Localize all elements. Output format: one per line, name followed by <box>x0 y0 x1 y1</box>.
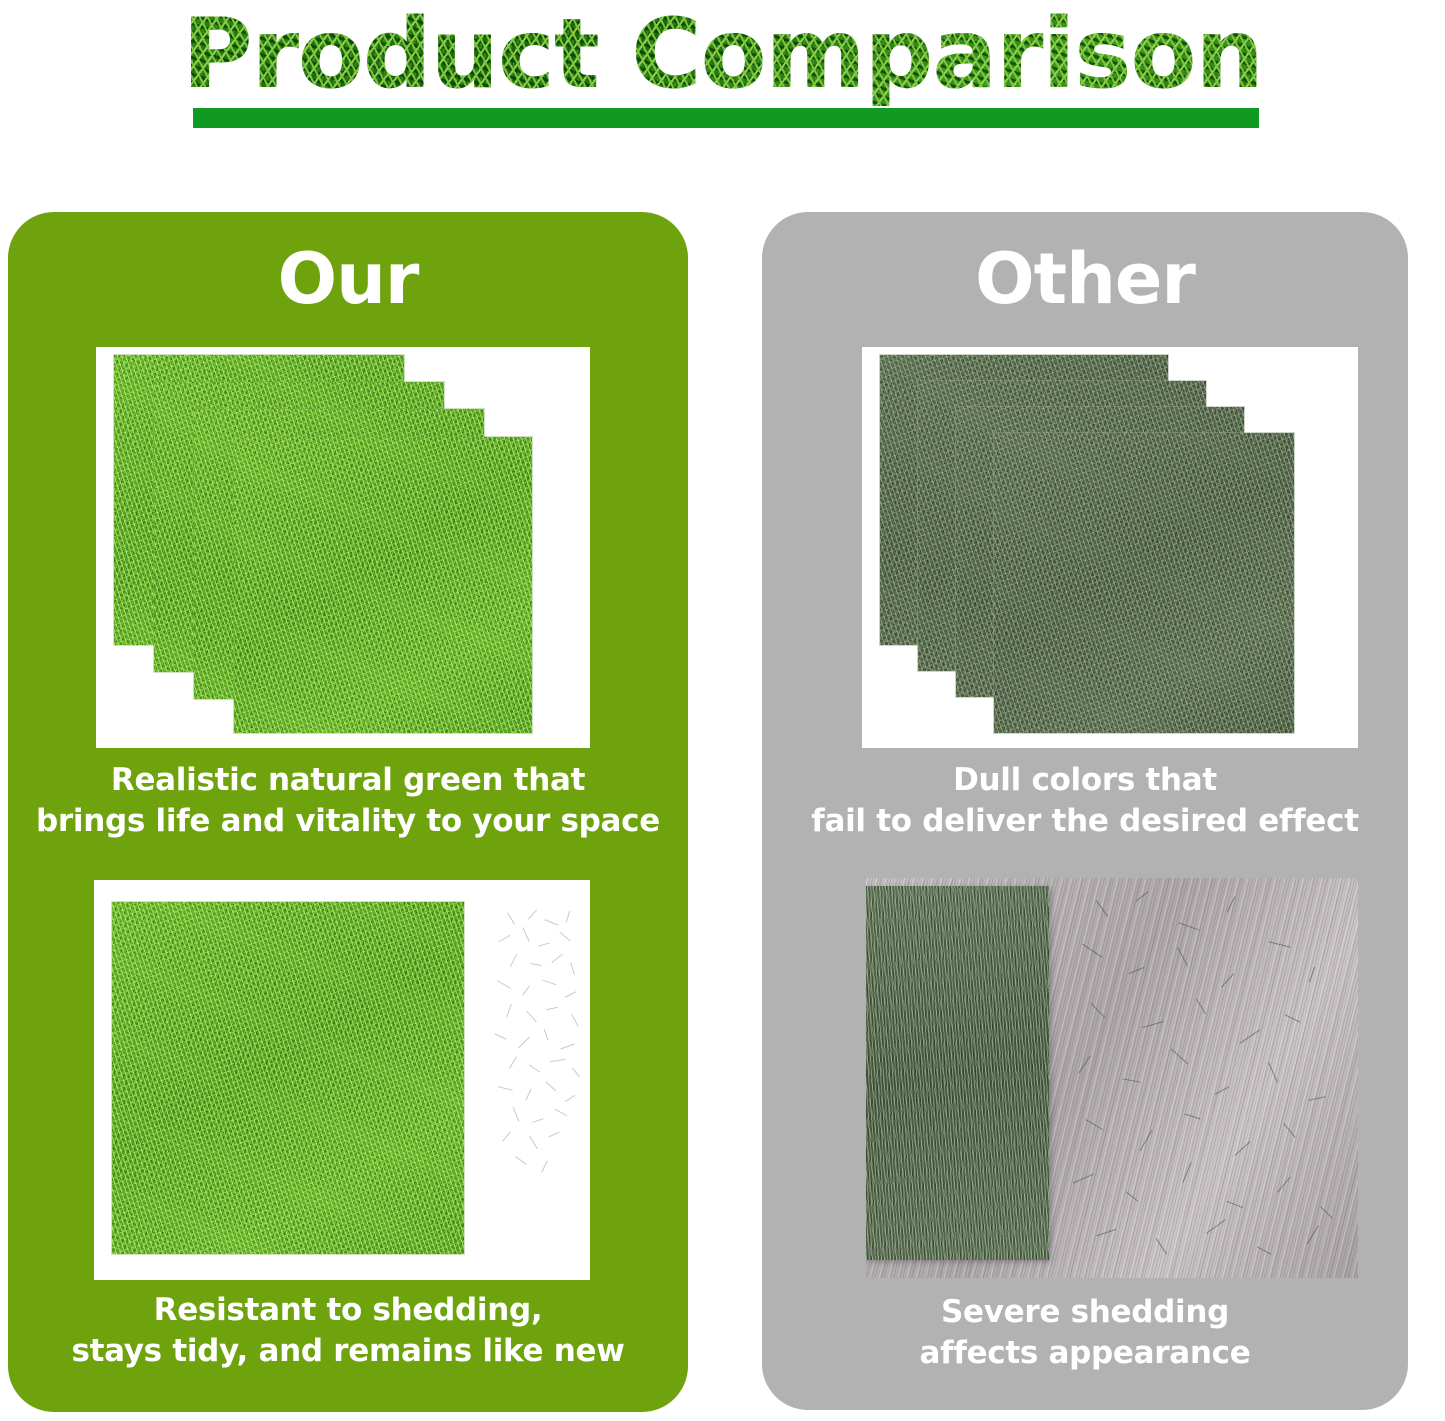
caption-our-top: Realistic natural green that brings life… <box>8 760 688 842</box>
panel-our-heading: Our <box>8 238 688 320</box>
loose-fibers-group <box>492 912 582 1197</box>
other-stacked-mats-image <box>862 347 1358 748</box>
caption-our-bottom: Resistant to shedding, stays tidy, and r… <box>8 1290 688 1372</box>
our-stacked-mats-image <box>96 347 590 748</box>
grass-mat-dull-4 <box>994 433 1294 733</box>
panel-other: Other Dull colors that fail to deliver t… <box>762 212 1408 1410</box>
caption-other-top: Dull colors that fail to deliver the des… <box>762 760 1408 842</box>
grass-mat-dull-on-floor <box>866 886 1049 1260</box>
title-block: Product Comparison <box>0 0 1445 140</box>
grass-mat-bright-single <box>112 902 464 1254</box>
title-underline-bar <box>193 108 1259 128</box>
panel-other-heading: Other <box>762 238 1408 320</box>
other-shedding-image <box>866 878 1358 1278</box>
our-shedding-test-image <box>94 880 590 1280</box>
caption-other-bottom: Severe shedding affects appearance <box>762 1292 1408 1374</box>
page-title: Product Comparison <box>0 2 1445 106</box>
product-comparison-infographic: Product Comparison Our Realistic natural… <box>0 0 1445 1421</box>
panel-our: Our Realistic natural green that brings … <box>8 212 688 1412</box>
grass-mat-bright-4 <box>234 437 532 733</box>
